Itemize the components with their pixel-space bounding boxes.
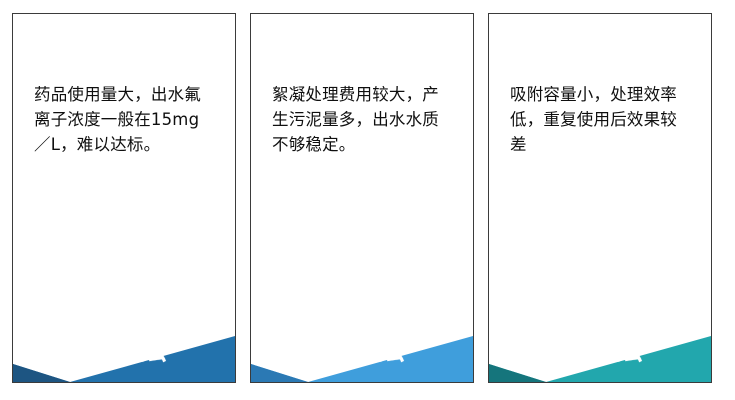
- card-description: 药品使用量大，出水氟离子浓度一般在15mg／L，难以达标。: [34, 82, 210, 157]
- card-body: 絮凝处理费用较大，产生污泥量多，出水水质不够稳定。 混凝法: [251, 14, 473, 382]
- card-adsorption[interactable]: 吸附容量小，处理效率低，重复使用后效果较差 吸附法: [488, 13, 712, 383]
- card-title: 混凝法: [251, 336, 473, 364]
- card-body: 药品使用量大，出水氟离子浓度一般在15mg／L，难以达标。 沉淀法: [13, 14, 235, 382]
- card-title: 吸附法: [489, 336, 711, 364]
- card-coagulation[interactable]: 絮凝处理费用较大，产生污泥量多，出水水质不够稳定。 混凝法: [250, 13, 474, 383]
- banner-accent-shape: [251, 364, 308, 382]
- card-description: 吸附容量小，处理效率低，重复使用后效果较差: [510, 82, 686, 157]
- banner-accent-shape: [489, 364, 546, 382]
- card-title: 沉淀法: [13, 336, 235, 364]
- card-body: 吸附容量小，处理效率低，重复使用后效果较差 吸附法: [489, 14, 711, 382]
- card-list: 药品使用量大，出水氟离子浓度一般在15mg／L，难以达标。 沉淀法 絮凝处理费用…: [0, 0, 735, 400]
- card-description: 絮凝处理费用较大，产生污泥量多，出水水质不够稳定。: [272, 82, 448, 157]
- banner-accent-shape: [13, 364, 70, 382]
- card-precipitation[interactable]: 药品使用量大，出水氟离子浓度一般在15mg／L，难以达标。 沉淀法: [12, 13, 236, 383]
- comparison-card-board: 药品使用量大，出水氟离子浓度一般在15mg／L，难以达标。 沉淀法 絮凝处理费用…: [0, 0, 735, 400]
